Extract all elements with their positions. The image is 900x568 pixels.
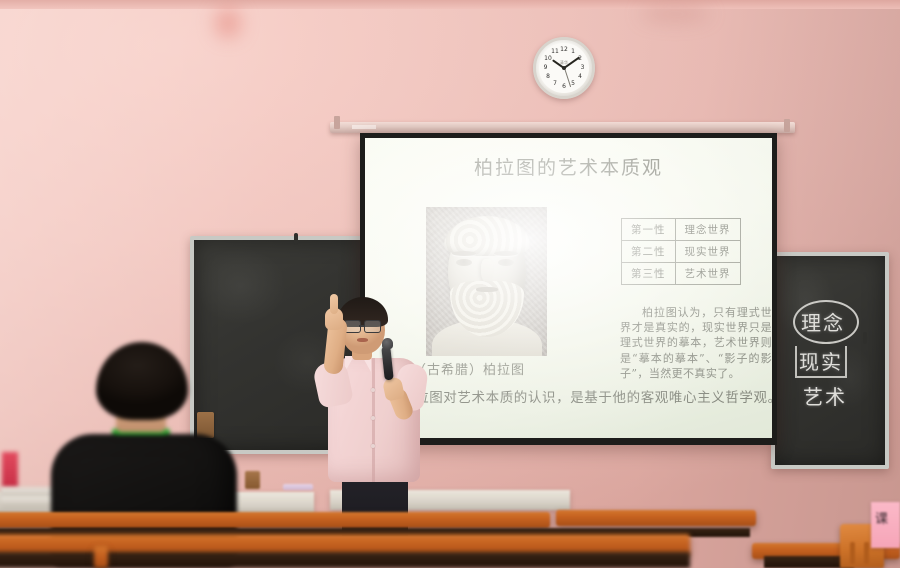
slide-table: 第一性 理念世界 第二性 现实世界 第三性 艺术世界	[621, 218, 741, 285]
chair-slot-2	[864, 542, 869, 564]
bench-leg-front	[94, 546, 108, 568]
board-clip-right	[863, 332, 867, 344]
pink-desk-sign-text: 课	[875, 508, 888, 527]
slide-paragraph: 柏拉图认为，只有理式世界才是真实的，现实世界只是理式世界的摹本，艺术世界则是“摹…	[620, 305, 772, 381]
bust-nose	[481, 259, 493, 283]
clock-face: 清华 12 1 2 3 4 5 6 7 8 9 10 11	[539, 43, 589, 93]
clock-numeral-1: 1	[571, 49, 575, 55]
table-row: 第三性 艺术世界	[622, 263, 741, 285]
projector-screen-roller	[330, 122, 795, 133]
bust-eye-right	[498, 259, 514, 266]
chalk-text-line2: 现实	[799, 346, 843, 375]
wall-clock: 清华 12 1 2 3 4 5 6 7 8 9 10 11	[533, 37, 595, 99]
clock-numeral-12: 12	[560, 47, 568, 53]
roller-bracket-left	[334, 116, 340, 129]
clock-center-pin	[562, 66, 566, 70]
shirt-placket	[372, 358, 375, 482]
clock-numeral-4: 4	[578, 74, 582, 80]
clock-numeral-6: 6	[562, 84, 566, 90]
chalk-text-line3: 艺术	[803, 381, 847, 410]
clock-numeral-10: 10	[544, 56, 552, 62]
clock-numeral-5: 5	[571, 81, 575, 87]
bust-brow-left	[452, 251, 476, 256]
glasses-bridge	[359, 325, 364, 327]
bench-row-back-right	[556, 510, 756, 526]
bust-brow-right	[494, 251, 518, 256]
lecturer	[300, 296, 460, 541]
student-hair	[96, 342, 188, 420]
shirt-button-3	[371, 444, 375, 448]
bust-eye-left	[456, 259, 472, 266]
table-cell-order-2: 第二性	[622, 241, 676, 263]
shirt-button-2	[371, 416, 375, 420]
table-cell-order-1: 第一性	[622, 219, 676, 241]
chalk-text-line1: 理念	[801, 307, 845, 336]
pink-desk-sign: 课	[871, 502, 900, 548]
slide-title: 柏拉图的艺术本质观	[365, 153, 772, 180]
clock-numeral-3: 3	[581, 65, 585, 71]
bust-mouth	[476, 287, 498, 292]
lecturer-index-finger	[330, 294, 338, 314]
clock-numeral-8: 8	[546, 74, 550, 80]
desk-eraser-object	[245, 471, 260, 489]
clock-numeral-11: 11	[551, 49, 559, 55]
clock-numeral-9: 9	[544, 65, 548, 71]
table-cell-order-3: 第三性	[622, 263, 676, 285]
bench-row-back	[0, 512, 550, 528]
classroom-scene: 清华 12 1 2 3 4 5 6 7 8 9 10 11 理念 现实	[0, 0, 900, 568]
table-cell-world-1: 理念世界	[675, 219, 740, 241]
table-cell-world-2: 现实世界	[675, 241, 740, 263]
board-clip-left	[294, 233, 298, 245]
table-row: 第二性 现实世界	[622, 241, 741, 263]
blackboard-right: 理念 现实 艺术	[771, 252, 889, 469]
chair-slot-1	[850, 542, 855, 564]
roller-bracket-right	[784, 119, 790, 132]
shirt-button-1	[371, 388, 375, 392]
microphone-head	[382, 338, 393, 349]
clock-numeral-7: 7	[553, 81, 557, 87]
roller-label-plate	[352, 125, 376, 129]
book-spine-colored	[2, 452, 18, 488]
table-row: 第一性 理念世界	[622, 219, 741, 241]
ceiling-edge	[0, 0, 900, 9]
table-cell-world-3: 艺术世界	[675, 263, 740, 285]
lecturer-mouth	[357, 338, 368, 342]
glasses-lens-right	[364, 320, 381, 333]
